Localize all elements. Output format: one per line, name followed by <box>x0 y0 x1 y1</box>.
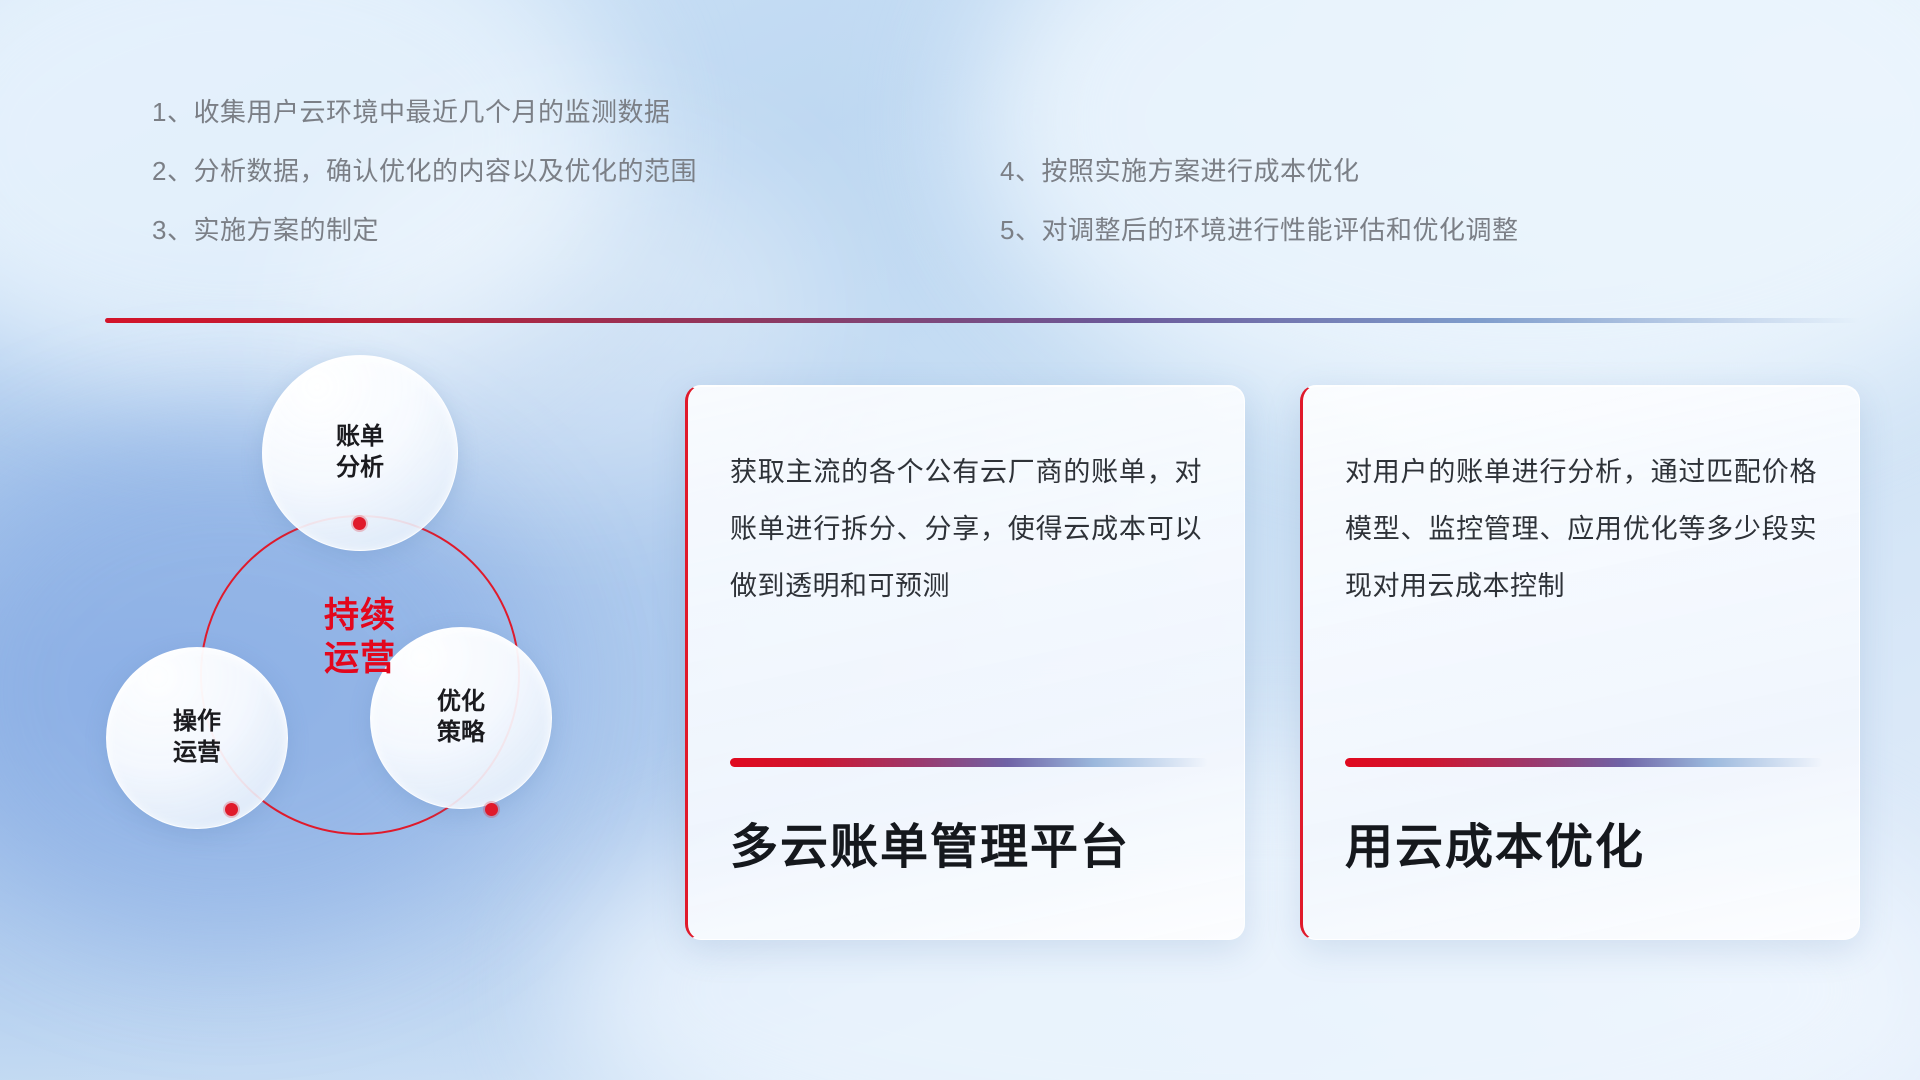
diagram-node-dot-left <box>225 803 238 816</box>
card-cloud-cost-optimization[interactable]: 对用户的账单进行分析，通过匹配价格模型、监控管理、应用优化等多少段实现对用云成本… <box>1300 385 1860 940</box>
step-item: 2、分析数据，确认优化的内容以及优化的范围 <box>152 158 697 184</box>
continuous-operation-diagram: 账单分析 操作运营 优化策略 持续运营 <box>100 355 630 935</box>
step-item: 5、对调整后的环境进行性能评估和优化调整 <box>1000 217 1518 243</box>
section-divider-rule <box>105 318 1860 323</box>
diagram-bubble-label: 优化策略 <box>437 687 485 748</box>
card-multi-cloud-bill-platform[interactable]: 获取主流的各个公有云厂商的账单，对账单进行拆分、分享，使得云成本可以做到透明和可… <box>685 385 1245 940</box>
card-divider <box>1345 758 1823 767</box>
card-body-text: 对用户的账单进行分析，通过匹配价格模型、监控管理、应用优化等多少段实现对用云成本… <box>1345 444 1817 616</box>
step-item: 4、按照实施方案进行成本优化 <box>1000 158 1518 184</box>
steps-list-left: 1、收集用户云环境中最近几个月的监测数据 2、分析数据，确认优化的内容以及优化的… <box>152 99 697 276</box>
card-body-text: 获取主流的各个公有云厂商的账单，对账单进行拆分、分享，使得云成本可以做到透明和可… <box>730 444 1202 616</box>
card-divider <box>730 758 1208 767</box>
diagram-bubble-operation[interactable]: 操作运营 <box>106 647 288 829</box>
diagram-bubble-label: 操作运营 <box>173 707 221 768</box>
steps-list-right: 4、按照实施方案进行成本优化 5、对调整后的环境进行性能评估和优化调整 <box>1000 158 1518 276</box>
diagram-node-dot-right <box>485 803 498 816</box>
step-item: 1、收集用户云环境中最近几个月的监测数据 <box>152 99 697 125</box>
card-title: 用云成本优化 <box>1345 807 1645 877</box>
card-title: 多云账单管理平台 <box>730 807 1130 877</box>
slide-canvas: 1、收集用户云环境中最近几个月的监测数据 2、分析数据，确认优化的内容以及优化的… <box>0 0 1920 1080</box>
diagram-center-label: 持续运营 <box>265 595 455 680</box>
step-item: 3、实施方案的制定 <box>152 217 697 243</box>
diagram-bubble-label: 账单分析 <box>336 422 384 483</box>
diagram-node-dot-top <box>353 517 366 530</box>
